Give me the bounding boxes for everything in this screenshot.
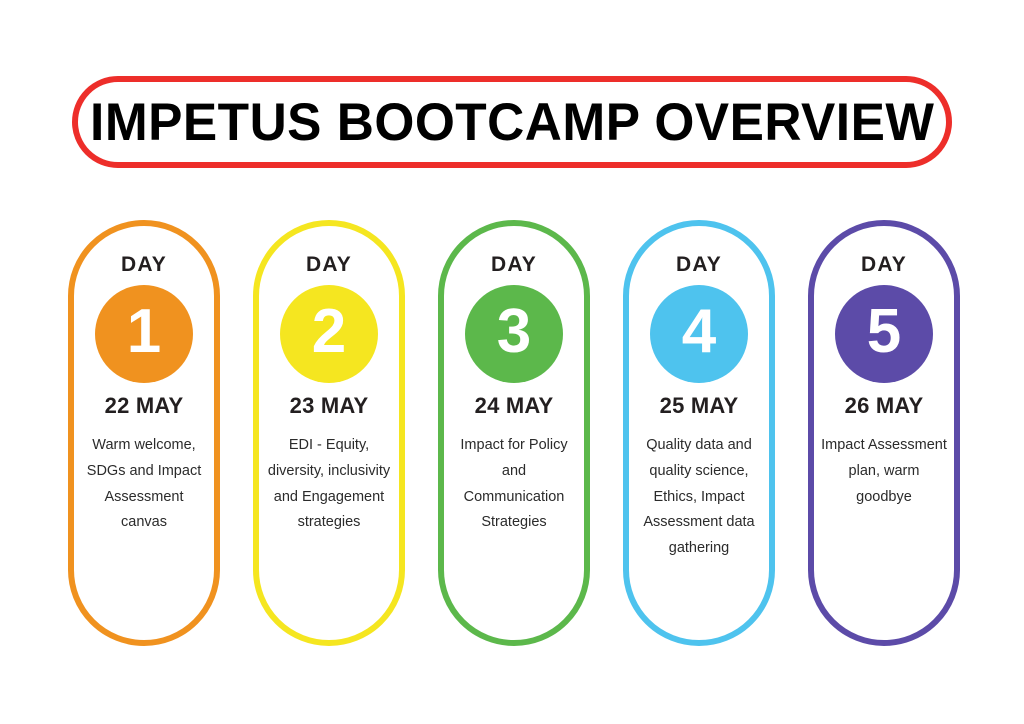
day-card-2-description: EDI - Equity, diversity, inclusivity and… bbox=[265, 433, 393, 536]
day-card-4-number-badge: 4 bbox=[650, 285, 748, 383]
day-card-3-date: 24 MAY bbox=[475, 395, 554, 417]
day-card-3-number: 3 bbox=[497, 301, 531, 363]
day-card-5-number-badge: 5 bbox=[835, 285, 933, 383]
day-card-1-day-label: DAY bbox=[121, 254, 167, 275]
day-cards-row: DAY 1 22 MAY Warm welcome, SDGs and Impa… bbox=[68, 220, 960, 646]
day-card-3-number-badge: 3 bbox=[465, 285, 563, 383]
day-card-2-day-label: DAY bbox=[306, 254, 352, 275]
day-card-3-description: Impact for Policy and Communication Stra… bbox=[450, 433, 578, 536]
day-card-3-day-label: DAY bbox=[491, 254, 537, 275]
day-card-2[interactable]: DAY 2 23 MAY EDI - Equity, diversity, in… bbox=[253, 220, 405, 646]
day-card-5-description: Impact Assessment plan, warm goodbye bbox=[820, 433, 948, 510]
day-card-4[interactable]: DAY 4 25 MAY Quality data and quality sc… bbox=[623, 220, 775, 646]
day-card-1-date: 22 MAY bbox=[105, 395, 184, 417]
day-card-4-date: 25 MAY bbox=[660, 395, 739, 417]
day-card-2-number: 2 bbox=[312, 301, 346, 363]
day-card-5-day-label: DAY bbox=[861, 254, 907, 275]
infographic-canvas: IMPETUS BOOTCAMP OVERVIEW DAY 1 22 MAY W… bbox=[0, 0, 1024, 724]
day-card-5-date: 26 MAY bbox=[845, 395, 924, 417]
day-card-1[interactable]: DAY 1 22 MAY Warm welcome, SDGs and Impa… bbox=[68, 220, 220, 646]
day-card-1-number: 1 bbox=[127, 301, 161, 363]
day-card-1-description: Warm welcome, SDGs and Impact Assessment… bbox=[80, 433, 208, 536]
day-card-4-number: 4 bbox=[682, 301, 716, 363]
day-card-1-number-badge: 1 bbox=[95, 285, 193, 383]
day-card-5-number: 5 bbox=[867, 301, 901, 363]
page-title: IMPETUS BOOTCAMP OVERVIEW bbox=[90, 96, 934, 149]
title-banner: IMPETUS BOOTCAMP OVERVIEW bbox=[72, 76, 952, 168]
day-card-4-day-label: DAY bbox=[676, 254, 722, 275]
day-card-3[interactable]: DAY 3 24 MAY Impact for Policy and Commu… bbox=[438, 220, 590, 646]
day-card-2-number-badge: 2 bbox=[280, 285, 378, 383]
day-card-5[interactable]: DAY 5 26 MAY Impact Assessment plan, war… bbox=[808, 220, 960, 646]
day-card-4-description: Quality data and quality science, Ethics… bbox=[635, 433, 763, 562]
day-card-2-date: 23 MAY bbox=[290, 395, 369, 417]
